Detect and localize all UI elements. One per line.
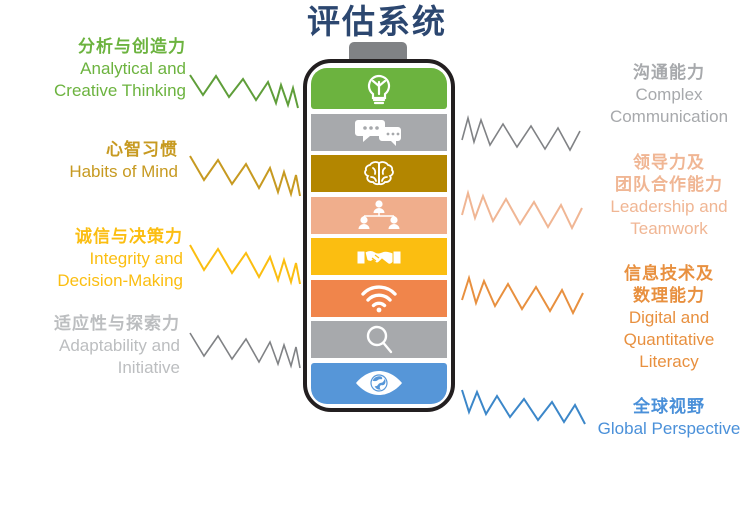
label-global-perspective: 全球视野 Global Perspective bbox=[584, 396, 754, 440]
connector-analytical-creative-thinking bbox=[190, 75, 298, 108]
wifi-signal-icon bbox=[357, 283, 401, 313]
label-analytical-creative-thinking: 分析与创造力 Analytical and Creative Thinking bbox=[0, 36, 186, 102]
label-en-line1: Integrity and bbox=[0, 248, 183, 270]
battery-segment-creative-thinking[interactable] bbox=[311, 68, 447, 109]
label-cn-line1: 领导力及 bbox=[584, 152, 754, 174]
connector-habits-of-mind bbox=[190, 156, 300, 196]
lightbulb-icon bbox=[357, 72, 401, 106]
battery-segments bbox=[311, 68, 447, 404]
connector-complex-communication bbox=[462, 118, 580, 150]
label-en-line2: Communication bbox=[584, 106, 754, 128]
label-integrity-decision-making: 诚信与决策力 Integrity and Decision-Making bbox=[0, 226, 183, 292]
label-cn-line2: 数理能力 bbox=[584, 285, 754, 307]
battery-segment-leadership[interactable] bbox=[311, 197, 447, 234]
label-en-line2: Initiative bbox=[0, 357, 180, 379]
label-en-line1: Digital and bbox=[584, 307, 754, 329]
label-en-line1: Complex bbox=[584, 84, 754, 106]
label-en-line2: Decision-Making bbox=[0, 270, 183, 292]
battery-segment-global-perspective[interactable] bbox=[311, 363, 447, 404]
label-complex-communication: 沟通能力 Complex Communication bbox=[584, 62, 754, 128]
connector-integrity-decision-making bbox=[190, 245, 300, 284]
label-leadership-teamwork: 领导力及 团队合作能力 Leadership and Teamwork bbox=[584, 152, 754, 240]
connector-adaptability-initiative bbox=[190, 333, 300, 368]
label-en-line1: Leadership and bbox=[584, 196, 754, 218]
connector-leadership-teamwork bbox=[462, 193, 582, 228]
battery-segment-communication[interactable] bbox=[311, 114, 447, 151]
label-en-line1: Habits of Mind bbox=[0, 161, 178, 183]
label-en-line1: Adaptability and bbox=[0, 335, 180, 357]
connector-global-perspective bbox=[462, 390, 585, 424]
speech-bubbles-icon bbox=[354, 117, 404, 147]
battery-segment-habits-of-mind[interactable] bbox=[311, 155, 447, 192]
label-cn-line2: 团队合作能力 bbox=[584, 174, 754, 196]
label-habits-of-mind: 心智习惯 Habits of Mind bbox=[0, 139, 178, 183]
brain-icon bbox=[357, 158, 401, 190]
label-en-line3: Literacy bbox=[584, 351, 754, 373]
label-cn: 适应性与探索力 bbox=[0, 313, 180, 335]
org-chart-people-icon bbox=[355, 199, 403, 231]
label-en-line2: Quantitative bbox=[584, 329, 754, 351]
infographic-canvas: 评估系统 bbox=[0, 0, 754, 516]
label-cn: 诚信与决策力 bbox=[0, 226, 183, 248]
label-adaptability-initiative: 适应性与探索力 Adaptability and Initiative bbox=[0, 313, 180, 379]
handshake-icon bbox=[354, 242, 404, 272]
label-cn: 心智习惯 bbox=[0, 139, 178, 161]
battery-segment-integrity[interactable] bbox=[311, 238, 447, 275]
label-en-line1: Global Perspective bbox=[584, 418, 754, 440]
label-cn: 全球视野 bbox=[584, 396, 754, 418]
magnifier-icon bbox=[362, 324, 396, 356]
label-en-line2: Creative Thinking bbox=[0, 80, 186, 102]
label-en-line2: Teamwork bbox=[584, 218, 754, 240]
battery-segment-adaptability[interactable] bbox=[311, 321, 447, 358]
battery-segment-digital-literacy[interactable] bbox=[311, 280, 447, 317]
label-cn: 分析与创造力 bbox=[0, 36, 186, 58]
label-digital-quantitative-literacy: 信息技术及 数理能力 Digital and Quantitative Lite… bbox=[584, 263, 754, 373]
connector-digital-quantitative-literacy bbox=[462, 278, 583, 313]
label-cn-line1: 信息技术及 bbox=[584, 263, 754, 285]
eye-globe-icon bbox=[353, 368, 405, 398]
label-cn: 沟通能力 bbox=[584, 62, 754, 84]
label-en-line1: Analytical and bbox=[0, 58, 186, 80]
